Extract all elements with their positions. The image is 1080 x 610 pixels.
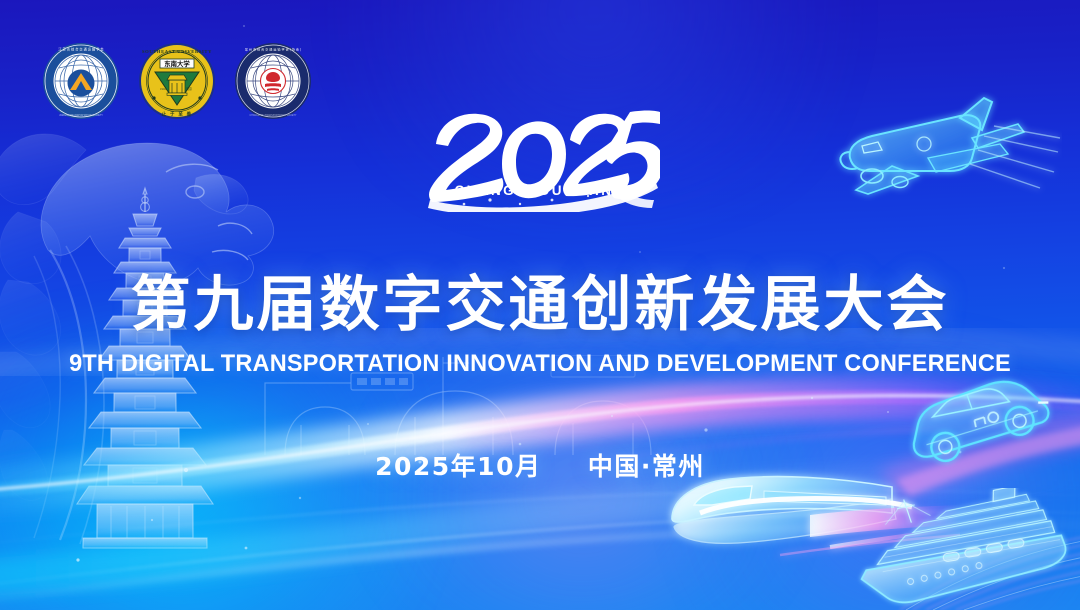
svg-text:南京: 南京 — [186, 86, 192, 91]
svg-text:1902: 1902 — [160, 87, 167, 91]
svg-text:江 苏 省 综 合 交 通 运 输 学 会: 江 苏 省 综 合 交 通 运 输 学 会 — [58, 47, 104, 52]
conference-title-english: 9TH DIGITAL TRANSPORTATION INNOVATION AN… — [22, 350, 1059, 378]
logo-changzhou-transportation-society[interactable]: 常 州 市 综 合 交 通 运 输 学 会 ( 协 会 ) CHANGZHOU … — [234, 42, 312, 120]
glow-magenta-center — [324, 366, 842, 610]
logo-jiangsu-transportation-society[interactable]: 江 苏 省 综 合 交 通 运 输 学 会 JIANGSU TRANSPORTA… — [42, 42, 120, 120]
conference-date: 2025年10月 — [375, 452, 541, 481]
svg-text:东南大学: 东南大学 — [164, 59, 190, 68]
year-city-label: CHANGZHOU·CHINA — [455, 183, 626, 198]
cruise-ship-wireframe — [851, 488, 1080, 610]
svg-text:常 州 市 综 合 交 通 运 输 学 会 ( 协 会 ): 常 州 市 综 合 交 通 运 输 学 会 ( 协 会 ) — [245, 47, 301, 52]
conference-title-chinese: 第九届数字交通创新发展大会 — [0, 273, 1080, 338]
svg-text:SOUTHEAST UNIVERSITY: SOUTHEAST UNIVERSITY — [142, 49, 212, 54]
conference-date-location: 2025年10月 中国·常州 — [0, 447, 1080, 483]
conference-poster: 江 苏 省 综 合 交 通 运 输 学 会 JIANGSU TRANSPORTA… — [0, 0, 1080, 610]
svg-text:止 于 至 善: 止 于 至 善 — [162, 111, 193, 118]
year-brush-calligraphy: CHANGZHOU·CHINA — [420, 104, 660, 212]
organizer-logos: 江 苏 省 综 合 交 通 运 输 学 会 JIANGSU TRANSPORTA… — [42, 42, 312, 120]
svg-text:CHANGZHOU TRANSPORTATION SOCIE: CHANGZHOU TRANSPORTATION SOCIETY — [250, 114, 297, 117]
year-mark-block: CHANGZHOU·CHINA — [0, 104, 1080, 212]
conference-location: 中国·常州 — [588, 452, 705, 481]
logo-southeast-university[interactable]: SOUTHEAST UNIVERSITY 止 于 至 善 东南大学 1902 南… — [138, 42, 216, 120]
svg-text:JIANGSU TRANSPORTATION SOCIETY: JIANGSU TRANSPORTATION SOCIETY — [59, 114, 103, 117]
